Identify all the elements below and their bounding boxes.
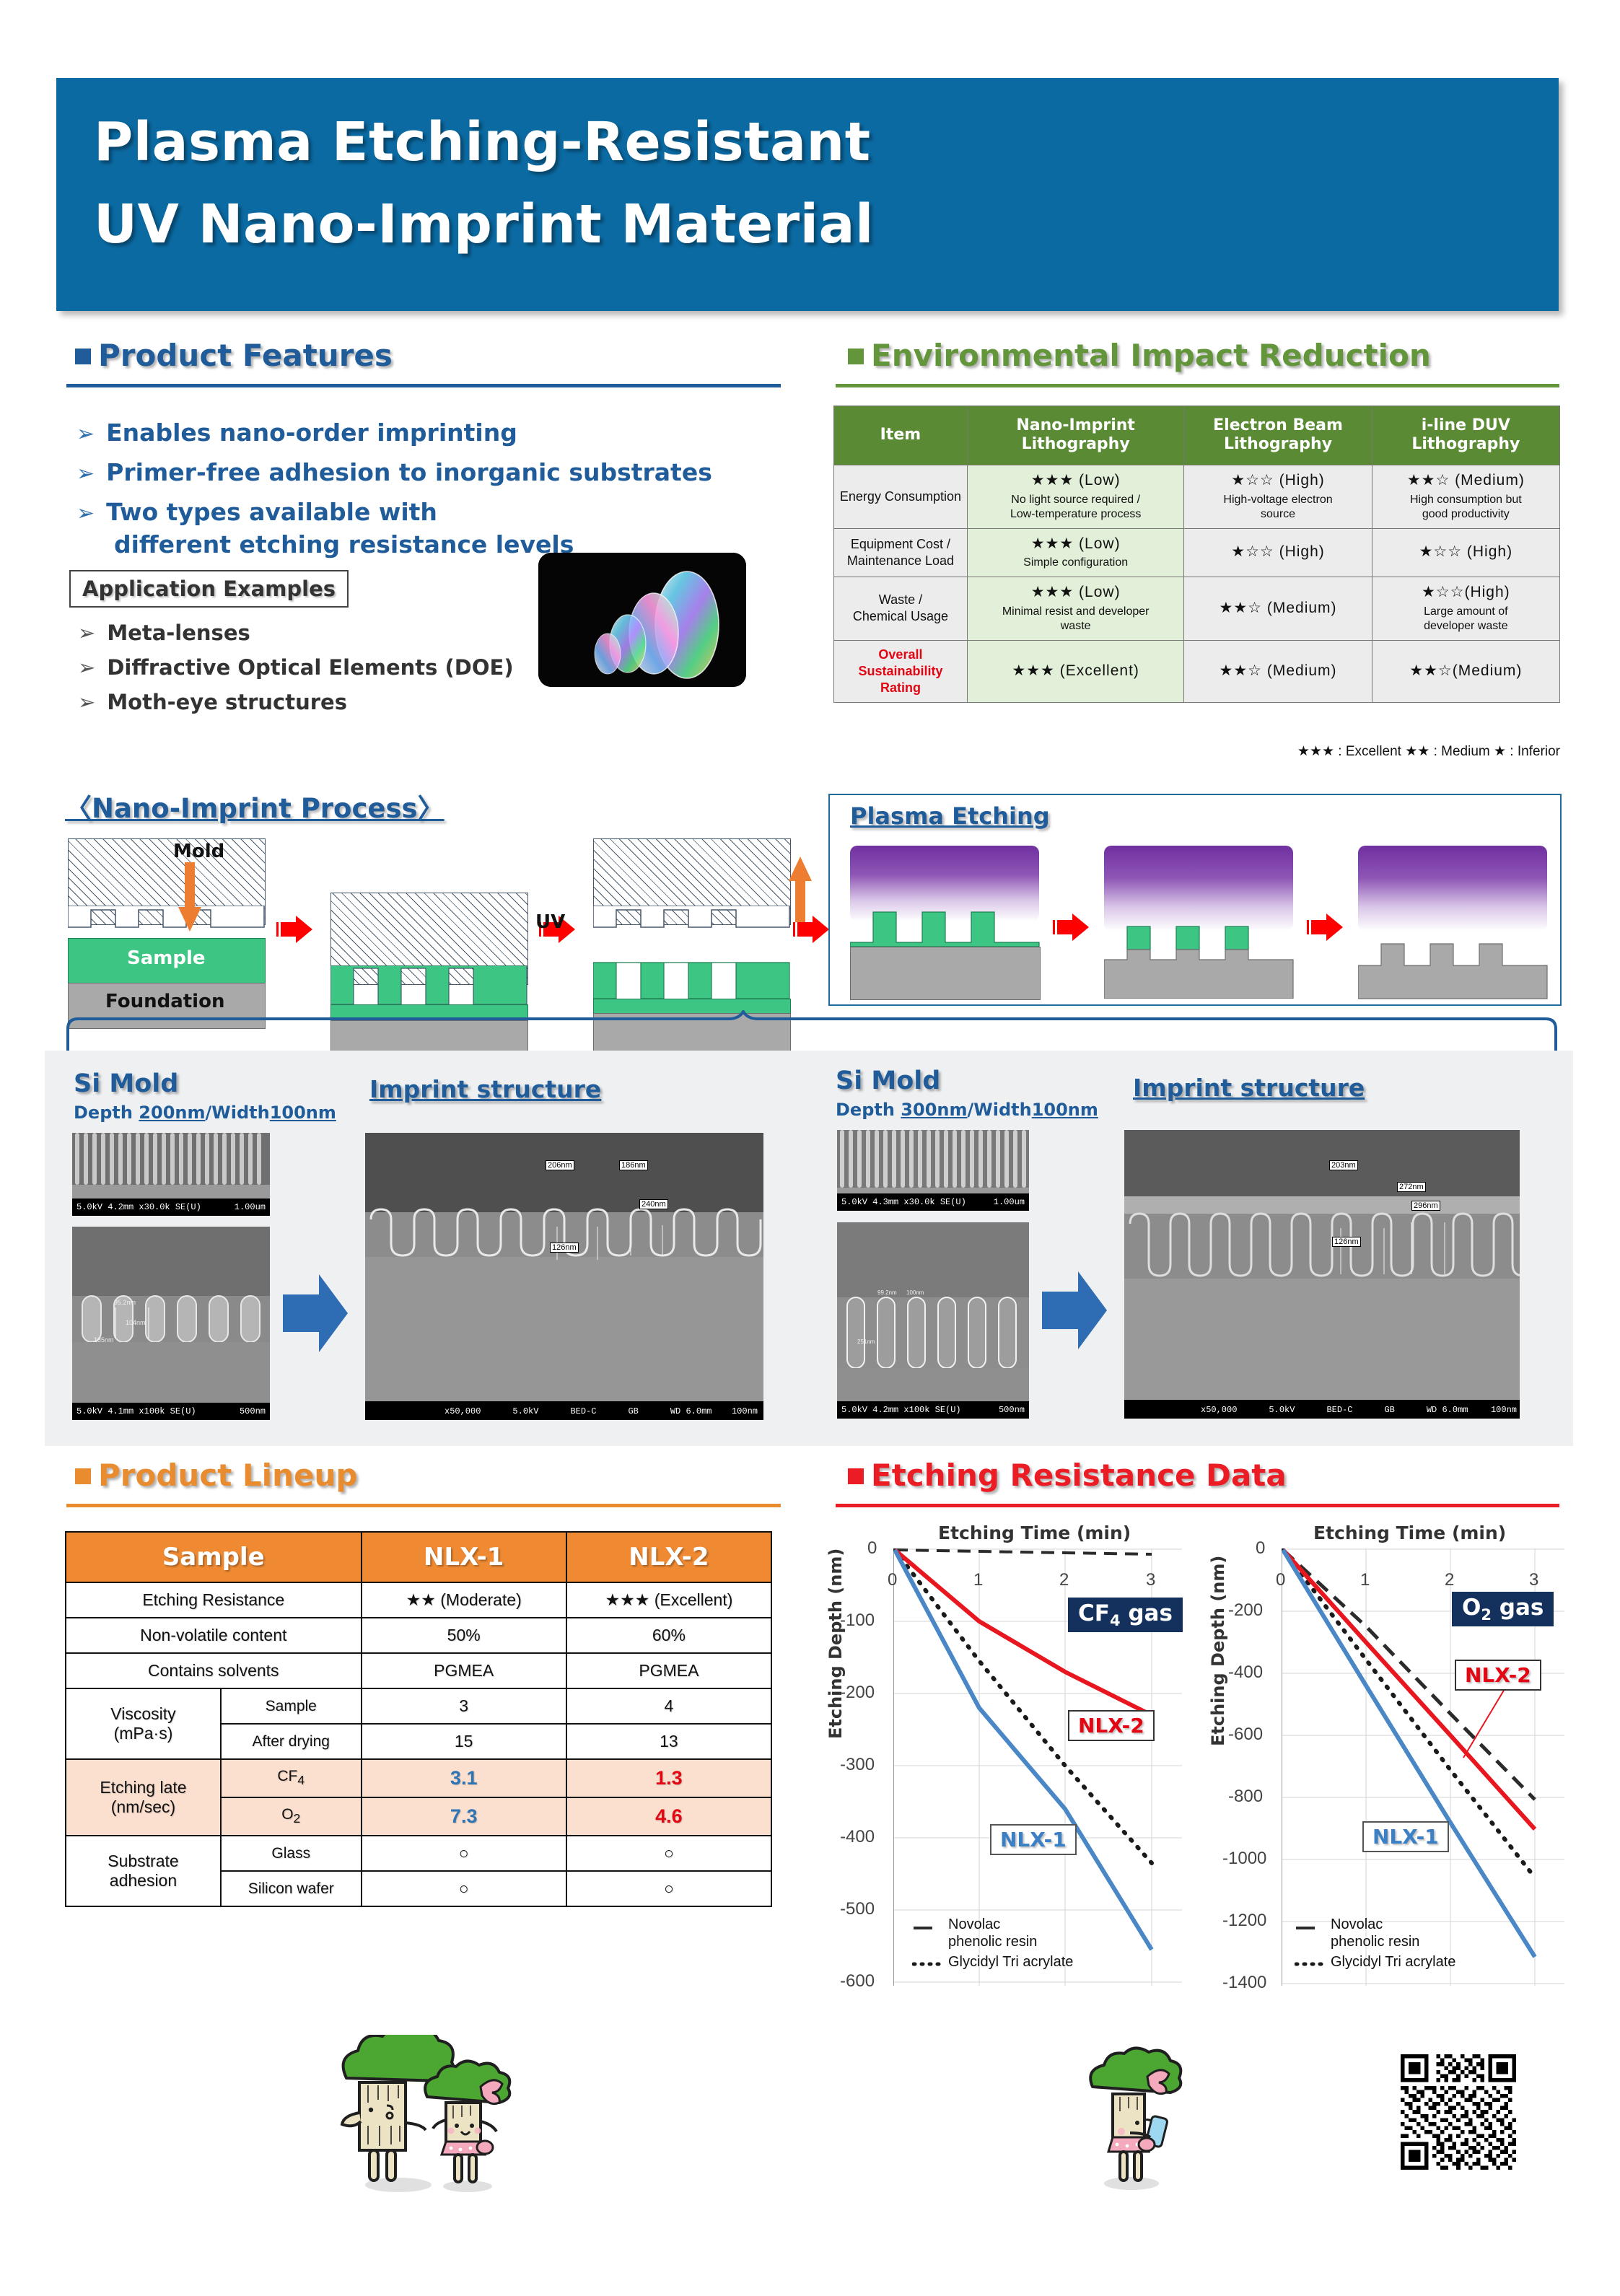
legend-novolac-cf4: Novolacphenolic resin <box>948 1916 1037 1950</box>
application-item-2: ➢Diffractive Optical Elements (DOE) <box>78 655 514 680</box>
table-row-etch-cf4: Etching late(nm/sec) CF4 3.1 1.3 <box>66 1759 771 1797</box>
col-header-iline-duv: i-line DUV Lithography <box>1372 406 1559 465</box>
cell-nlx1: ○ <box>362 1871 566 1906</box>
section-header-product-lineup: Product Lineup <box>75 1458 357 1493</box>
sem-image-mold-bottom-right: 99.2nm 100nm 251nm 5.0kV 4.2mm x100k SE(… <box>837 1222 1029 1419</box>
col-header-nlx1: NLX-1 <box>362 1532 566 1582</box>
cell-ebeam: ★☆☆ (High) High-voltage electronsource <box>1184 465 1372 528</box>
row-label: Etching Resistance <box>66 1582 362 1618</box>
legend-novolac-o2: Novolacphenolic resin <box>1331 1916 1419 1950</box>
application-text: Diffractive Optical Elements (DOE) <box>107 655 513 680</box>
product-lineup-table: Sample NLX-1 NLX-2 Etching Resistance ★★… <box>65 1531 772 1907</box>
cell-nlx1: 3 <box>362 1688 566 1724</box>
y-tick-7-o2: -1400 <box>1222 1973 1266 1993</box>
row-sublabel: Sample <box>221 1688 362 1724</box>
sem-scale-bar: 5.0kV 4.2mm x100k SE(U) 500nm <box>837 1401 1029 1419</box>
cell-nlx1: ★★ (Moderate) <box>362 1582 566 1618</box>
y-tick-1-o2: -200 <box>1228 1600 1263 1621</box>
plasma-substrate-1 <box>850 947 1041 1000</box>
chevron-right-icon: ➢ <box>76 501 95 526</box>
table-row-solvents: Contains solvents PGMEA PGMEA <box>66 1653 771 1688</box>
sem-bar-kv: 5.0kV <box>1269 1405 1295 1415</box>
y-tick-6-o2: -1200 <box>1222 1911 1266 1931</box>
x-tick-2-o2: 2 <box>1445 1570 1454 1590</box>
svg-text:185nm: 185nm <box>94 1336 114 1344</box>
sem-bar-mag: x50,000 <box>445 1406 481 1416</box>
section-rule-environment <box>836 384 1559 387</box>
y-axis-label-o2: Etching Depth (nm) <box>1208 1556 1228 1746</box>
chart-cf4-gas: Etching Time (min) Etching Depth (nm) <box>830 1522 1212 2020</box>
mascot-broccoli-with-phone <box>1080 2042 1209 2194</box>
measure-label: 186nm <box>619 1160 648 1170</box>
row-label: Contains solvents <box>66 1653 362 1688</box>
cell-duv: ★★☆ (Medium) High consumption butgood pr… <box>1372 465 1559 528</box>
cell-duv: ★★☆(Medium) <box>1372 640 1559 702</box>
feature-text: Primer-free adhesion to inorganic substr… <box>106 458 712 486</box>
si-mold-title-right: Si Mold <box>836 1066 940 1095</box>
row-sublabel-cf4: CF4 <box>221 1759 362 1797</box>
sem-bar-left-text: 5.0kV 4.2mm x30.0k SE(U) <box>76 1202 201 1212</box>
feature-bullet-3-cont: different etching resistance levels <box>114 530 574 558</box>
sem-bar-kv: 5.0kV <box>512 1406 538 1416</box>
label-foundation: Foundation <box>105 991 224 1012</box>
cell-nlx2: ○ <box>566 1871 771 1906</box>
label-mold: Mold <box>173 841 224 862</box>
plasma-cloud-3 <box>1358 846 1547 931</box>
environmental-impact-table: Item Nano-Imprint Lithography Electron B… <box>833 406 1560 703</box>
section-header-etching-resistance: Etching Resistance Data <box>848 1458 1287 1493</box>
col-header-nlx2: NLX-2 <box>566 1532 771 1582</box>
bullet-square-icon <box>75 1468 91 1484</box>
row-label: Waste /Chemical Usage <box>834 577 968 640</box>
series-label-nlx2-o2: NLX-2 <box>1455 1660 1541 1691</box>
sem-bar-wd: WD 6.0mm <box>670 1406 712 1416</box>
chart-o2-gas: Etching Time (min) Etching Depth (nm) <box>1212 1522 1573 2020</box>
sem-bar-right-text: 1.00um <box>235 1202 266 1212</box>
row-label-substrate-adhesion: Substrateadhesion <box>66 1836 221 1906</box>
cell-nlx1: 50% <box>362 1618 566 1653</box>
sem-scale-bar: 5.0kV 4.3mm x30.0k SE(U) 1.00um <box>837 1193 1029 1211</box>
svg-text:251nm: 251nm <box>857 1338 875 1345</box>
chevron-right-icon: ➢ <box>78 655 95 680</box>
measure-label: 240nm <box>639 1199 668 1209</box>
sem-scale-bar: x50,000 5.0kV BED-C GB WD 6.0mm 100nm <box>1124 1401 1520 1419</box>
cell-sub: Large amount ofdeveloper waste <box>1377 605 1555 634</box>
cell-nlx1: ○ <box>362 1836 566 1871</box>
x-tick-1-o2: 1 <box>1360 1570 1370 1590</box>
chevron-right-icon: ➢ <box>76 461 95 486</box>
row-sublabel: Silicon wafer <box>221 1871 362 1906</box>
svg-text:104nm: 104nm <box>126 1319 146 1326</box>
orange-down-arrow-1 <box>178 862 202 934</box>
table-row: Overall SustainabilityRating ★★★ (Excell… <box>834 640 1560 702</box>
cell-nlx2: ★★★ (Excellent) <box>566 1582 771 1618</box>
sem-image-imprint-right: 203nm 272nm 296nm 126nm x50,000 5.0kV BE… <box>1124 1130 1520 1419</box>
section-title-text: Environmental Impact Reduction <box>871 338 1431 373</box>
cell-ebeam: ★★☆ (Medium) <box>1184 640 1372 702</box>
col-header-sample: Sample <box>66 1532 362 1582</box>
bullet-square-icon <box>848 349 864 364</box>
bullet-square-icon <box>75 349 91 364</box>
x-tick-0-cf4: 0 <box>888 1570 897 1590</box>
table-row-adhesion-glass: Substrateadhesion Glass ○ ○ <box>66 1836 771 1871</box>
cell-nlx1: PGMEA <box>362 1653 566 1688</box>
feature-bullet-2: ➢Primer-free adhesion to inorganic subst… <box>76 458 712 486</box>
feature-text: Enables nano-order imprinting <box>106 419 517 447</box>
title-line-1: Plasma Etching-Resistant <box>94 111 871 173</box>
blue-transition-arrow-right <box>1042 1267 1108 1354</box>
sem-bar-gb: GB <box>1384 1405 1394 1415</box>
imprint-structure-title-right: Imprint structure <box>1133 1074 1365 1102</box>
cell-sub: No light source required /Low-temperatur… <box>972 493 1179 522</box>
table-header-row: Sample NLX-1 NLX-2 <box>66 1532 771 1582</box>
y-tick-6-cf4: -600 <box>840 1971 875 1992</box>
sem-bar-det: BED-C <box>570 1406 596 1416</box>
measure-label: 126nm <box>1332 1237 1361 1247</box>
bullet-square-icon <box>848 1468 864 1484</box>
plasma-substrate-2 <box>1104 948 1295 999</box>
nano-imprint-process-title: 〈Nano-Imprint Process〉 <box>65 786 445 825</box>
imprinted-pattern-3 <box>593 960 791 1002</box>
legend-swatch-dashed-cf4 <box>912 1922 948 1934</box>
gas-badge-cf4: CF4 gas <box>1068 1598 1183 1632</box>
sem-bar-left-text: 5.0kV 4.2mm x100k SE(U) <box>841 1405 961 1415</box>
sem-bar-right-text: 500nm <box>999 1405 1025 1415</box>
mold-filled-teeth-2 <box>330 965 528 1007</box>
legend-glycidyl-o2: Glycidyl Tri acrylate <box>1331 1953 1455 1971</box>
process-arrow-1 <box>274 915 313 944</box>
table-row: Waste /Chemical Usage ★★★ (Low) Minimal … <box>834 577 1560 640</box>
sem-bar-scale: 100nm <box>1491 1405 1517 1415</box>
y-tick-4-cf4: -400 <box>840 1827 875 1847</box>
si-mold-spec-right: Depth 300nm/Width100nm <box>836 1100 1098 1120</box>
plasma-substrate-3 <box>1358 942 1549 1000</box>
sem-bar-gb: GB <box>628 1406 638 1416</box>
application-text: Moth-eye structures <box>107 690 347 714</box>
chart-title-cf4: Etching Time (min) <box>938 1522 1131 1543</box>
mascot-pair-broccoli <box>318 2035 512 2201</box>
feature-text: Two types available with <box>106 498 437 526</box>
series-label-nlx2-cf4: NLX-2 <box>1068 1710 1155 1741</box>
table-row-viscosity-sample: Viscosity(mPa·s) Sample 3 4 <box>66 1688 771 1724</box>
measure-label: 296nm <box>1411 1201 1440 1211</box>
cell-nano: ★★★ (Excellent) <box>967 640 1183 702</box>
legend-swatch-dotted-o2 <box>1295 1958 1331 1970</box>
si-mold-title-left: Si Mold <box>74 1069 178 1098</box>
cell-sub: High-voltage electronsource <box>1188 493 1367 522</box>
cell-ebeam: ★★☆ (Medium) <box>1184 577 1372 640</box>
legend-swatch-dashed-o2 <box>1295 1922 1331 1934</box>
cell-nlx2: 4 <box>566 1688 771 1724</box>
x-tick-3-o2: 3 <box>1529 1570 1538 1590</box>
row-sublabel: Glass <box>221 1836 362 1871</box>
legend-glycidyl-cf4: Glycidyl Tri acrylate <box>948 1953 1073 1971</box>
mold-teeth-1 <box>68 906 266 929</box>
svg-text:100nm: 100nm <box>906 1289 924 1296</box>
section-rule-etching <box>836 1504 1559 1507</box>
table-header-row: Item Nano-Imprint Lithography Electron B… <box>834 406 1560 465</box>
plasma-arrow-2 <box>1305 913 1344 942</box>
sem-scale-bar: x50,000 5.0kV BED-C GB WD 6.0mm 100nm <box>365 1403 763 1420</box>
col-header-item: Item <box>834 406 968 465</box>
cell-nlx1: 7.3 <box>362 1797 566 1836</box>
y-axis-label-cf4: Etching Depth (nm) <box>826 1548 846 1739</box>
section-title-text: Etching Resistance Data <box>871 1458 1287 1493</box>
sem-bar-right-text: 1.00um <box>994 1197 1025 1207</box>
label-uv: UV <box>535 911 565 933</box>
x-tick-3-cf4: 3 <box>1146 1570 1155 1590</box>
cell-duv: ★☆☆(High) Large amount ofdeveloper waste <box>1372 577 1559 640</box>
mold-teeth-3 <box>593 906 791 929</box>
sem-bar-mag: x50,000 <box>1201 1405 1237 1415</box>
measure-label: 272nm <box>1397 1182 1426 1192</box>
plasma-arrow-1 <box>1051 913 1090 942</box>
row-label-etching-rate: Etching late(nm/sec) <box>66 1759 221 1836</box>
sem-image-mold-bottom-left: 95.2nm 104nm 185nm 5.0kV 4.1mm x100k SE(… <box>72 1227 270 1420</box>
application-item-3: ➢Moth-eye structures <box>78 690 347 714</box>
chevron-right-icon: ➢ <box>78 690 95 714</box>
section-rule-features <box>66 384 781 387</box>
title-line-2: UV Nano-Imprint Material <box>94 193 874 255</box>
poster-title-banner: Plasma Etching-Resistant UV Nano-Imprint… <box>56 78 1559 311</box>
cell-nano: ★★★ (Low) No light source required /Low-… <box>967 465 1183 528</box>
section-header-environmental-impact: Environmental Impact Reduction <box>848 338 1431 373</box>
cell-sub: Minimal resist and developerwaste <box>972 605 1179 634</box>
y-tick-5-cf4: -500 <box>840 1899 875 1919</box>
sem-bar-wd: WD 6.0mm <box>1427 1405 1468 1415</box>
sem-scale-bar: 5.0kV 4.1mm x100k SE(U) 500nm <box>72 1403 270 1420</box>
feature-bullet-3: ➢Two types available with <box>76 498 437 526</box>
plasma-resist-1 <box>850 911 1041 948</box>
y-tick-3-cf4: -300 <box>840 1755 875 1775</box>
cell-nlx2: 1.3 <box>566 1759 771 1797</box>
cell-nano: ★★★ (Low) Minimal resist and developerwa… <box>967 577 1183 640</box>
row-label: Equipment Cost /Maintenance Load <box>834 528 968 577</box>
section-rule-lineup <box>66 1504 781 1507</box>
cell-nlx2: PGMEA <box>566 1653 771 1688</box>
series-label-nlx1-cf4: NLX-1 <box>990 1824 1077 1855</box>
chart-title-o2: Etching Time (min) <box>1313 1522 1506 1543</box>
row-label: Non-volatile content <box>66 1618 362 1653</box>
gas-badge-o2: O2 gas <box>1452 1592 1554 1626</box>
chevron-right-icon: ➢ <box>76 421 95 447</box>
feature-text: different etching resistance levels <box>114 530 574 558</box>
section-title-text: Product Lineup <box>98 1458 357 1493</box>
imprint-structure-title-left: Imprint structure <box>369 1075 601 1103</box>
x-tick-2-cf4: 2 <box>1059 1570 1069 1590</box>
sem-image-mold-top-left: 5.0kV 4.2mm x30.0k SE(U) 1.00um <box>72 1133 270 1216</box>
x-tick-0-o2: 0 <box>1276 1570 1285 1590</box>
star-rating-legend: ★★★ : Excellent ★★ : Medium ★ : Inferior <box>833 743 1567 760</box>
row-label-overall: Overall SustainabilityRating <box>834 640 968 702</box>
plasma-cloud-2 <box>1104 846 1293 931</box>
sem-bar-det: BED-C <box>1326 1405 1352 1415</box>
process-arrow-3 <box>791 915 830 944</box>
measure-label: 206nm <box>546 1160 574 1170</box>
application-item-1: ➢Meta-lenses <box>78 621 250 645</box>
y-tick-2-cf4: -200 <box>840 1683 875 1703</box>
row-sublabel: After drying <box>221 1724 362 1759</box>
cell-nlx2: 13 <box>566 1724 771 1759</box>
cell-nlx1: 15 <box>362 1724 566 1759</box>
label-sample: Sample <box>127 947 206 969</box>
sem-image-mold-top-right: 5.0kV 4.3mm x30.0k SE(U) 1.00um <box>837 1130 1029 1211</box>
meta-lens-photo <box>538 553 746 687</box>
cell-nlx2: 4.6 <box>566 1797 771 1836</box>
plasma-etching-title: Plasma Etching <box>850 802 1050 830</box>
y-tick-1-cf4: -100 <box>840 1611 875 1631</box>
series-label-nlx1-o2: NLX-1 <box>1362 1821 1449 1852</box>
poster-page: Plasma Etching-Resistant UV Nano-Imprint… <box>0 0 1620 2296</box>
application-examples-box: Application Examples <box>69 570 349 608</box>
sem-bar-left-text: 5.0kV 4.1mm x100k SE(U) <box>76 1406 196 1416</box>
sem-scale-bar: 5.0kV 4.2mm x30.0k SE(U) 1.00um <box>72 1199 270 1216</box>
y-tick-0-cf4: 0 <box>867 1538 877 1559</box>
cell-nlx2: 60% <box>566 1618 771 1653</box>
row-label: Energy Consumption <box>834 465 968 528</box>
col-header-nano-imprint: Nano-Imprint Lithography <box>967 406 1183 465</box>
application-text: Meta-lenses <box>107 621 250 645</box>
y-tick-5-o2: -1000 <box>1222 1849 1266 1869</box>
table-row: Equipment Cost /Maintenance Load ★★★ (Lo… <box>834 528 1560 577</box>
cell-duv: ★☆☆ (High) <box>1372 528 1559 577</box>
sem-bar-left-text: 5.0kV 4.3mm x30.0k SE(U) <box>841 1197 966 1207</box>
row-label-viscosity: Viscosity(mPa·s) <box>66 1688 221 1759</box>
svg-text:95.2nm: 95.2nm <box>114 1299 136 1306</box>
y-tick-2-o2: -400 <box>1228 1662 1263 1683</box>
y-tick-0-o2: 0 <box>1256 1538 1265 1559</box>
x-tick-1-cf4: 1 <box>973 1570 983 1590</box>
qr-code[interactable] <box>1401 2054 1516 2170</box>
sem-image-imprint-left: 206nm 186nm 240nm 126nm x50,000 5.0kV BE… <box>365 1133 763 1420</box>
brace-connector <box>58 1010 1566 1056</box>
table-row-etching-resistance: Etching Resistance ★★ (Moderate) ★★★ (Ex… <box>66 1582 771 1618</box>
plasma-resist-2 <box>1104 925 1295 951</box>
blue-transition-arrow-left <box>283 1270 349 1357</box>
cell-nlx1: 3.1 <box>362 1759 566 1797</box>
sem-bar-scale: 100nm <box>732 1406 758 1416</box>
measure-label: 126nm <box>550 1243 579 1253</box>
section-header-product-features: Product Features <box>75 338 393 373</box>
cell-nlx2: ○ <box>566 1836 771 1871</box>
cell-nano: ★★★ (Low) Simple configuration <box>967 528 1183 577</box>
svg-text:99.2nm: 99.2nm <box>877 1289 897 1296</box>
chevron-right-icon: ➢ <box>78 621 95 645</box>
section-title-text: Product Features <box>98 338 393 373</box>
y-tick-4-o2: -800 <box>1228 1787 1263 1807</box>
col-header-electron-beam: Electron Beam Lithography <box>1184 406 1372 465</box>
cell-ebeam: ★☆☆ (High) <box>1184 528 1372 577</box>
sem-bar-right-text: 500nm <box>240 1406 266 1416</box>
table-row-nonvolatile: Non-volatile content 50% 60% <box>66 1618 771 1653</box>
feature-bullet-1: ➢Enables nano-order imprinting <box>76 419 517 447</box>
y-tick-3-o2: -600 <box>1228 1725 1263 1745</box>
table-row: Energy Consumption ★★★ (Low) No light so… <box>834 465 1560 528</box>
cell-sub: High consumption butgood productivity <box>1377 493 1555 522</box>
measure-label: 203nm <box>1329 1160 1358 1170</box>
legend-swatch-dotted-cf4 <box>912 1958 948 1970</box>
si-mold-spec-left: Depth 200nm/Width100nm <box>74 1103 336 1123</box>
row-sublabel-o2: O2 <box>221 1797 362 1836</box>
